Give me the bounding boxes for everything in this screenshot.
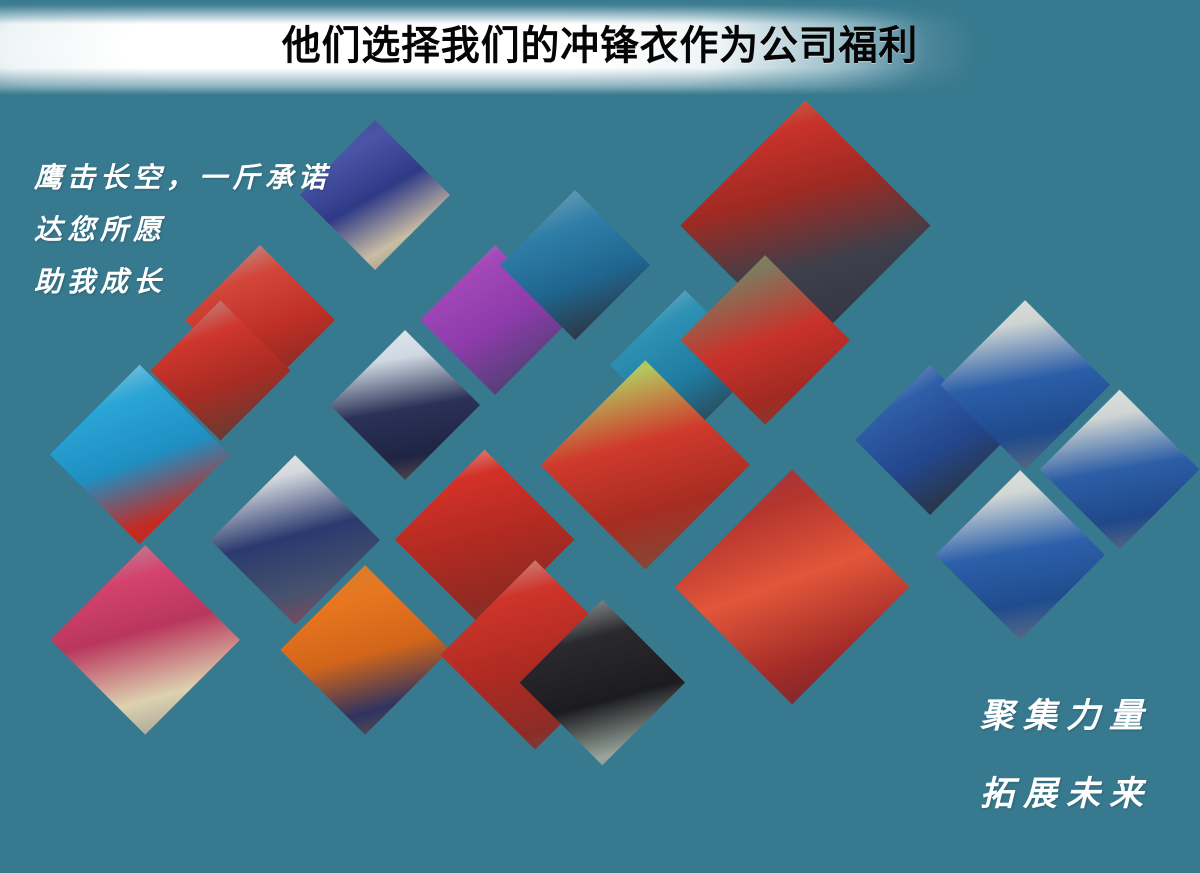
slogan-left: 鹰击长空，一斤承诺 达您所愿 助我成长 (34, 152, 331, 308)
mosaic-tile-photo (50, 545, 240, 735)
slogan-left-line-1: 鹰击长空，一斤承诺 (34, 152, 331, 204)
slogan-right: 聚集力量 拓展未来 (980, 677, 1152, 833)
promo-poster: 他们选择我们的冲锋衣作为公司福利 鹰击长空，一斤承诺 达您所愿 助我成长 聚集力… (0, 0, 1200, 873)
slogan-right-line-1: 聚集力量 (980, 677, 1152, 755)
slogan-left-line-3: 助我成长 (34, 256, 331, 308)
mosaic-tile (50, 545, 240, 735)
slogan-left-line-2: 达您所愿 (34, 204, 331, 256)
page-title: 他们选择我们的冲锋衣作为公司福利 (18, 22, 1182, 70)
slogan-right-line-2: 拓展未来 (980, 755, 1152, 833)
